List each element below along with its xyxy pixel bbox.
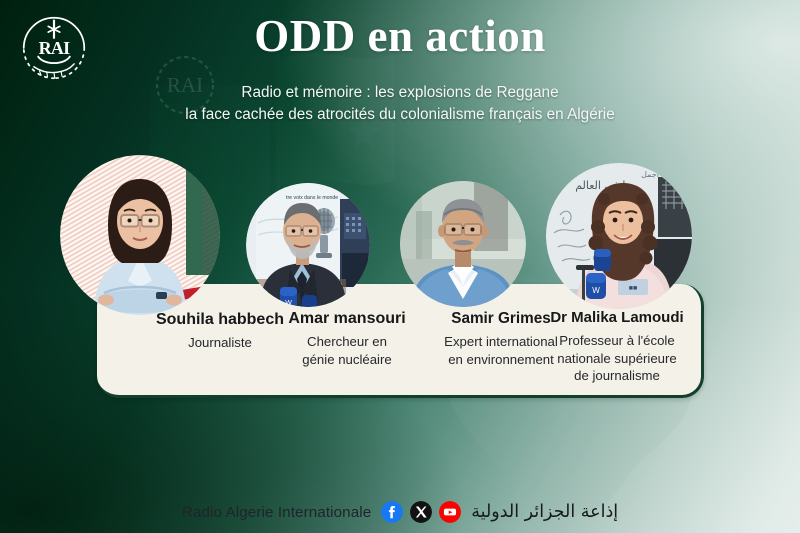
speaker-role: Professeur à l'école nationale supérieur… bbox=[522, 332, 712, 385]
speaker-entry-4: Dr Malika Lamoudi Professeur à l'école n… bbox=[522, 309, 712, 385]
page-title: ODD en action bbox=[120, 13, 680, 60]
brand-name-arabic: إذاعة الجزائر الدولية bbox=[471, 502, 618, 522]
page-subtitle: Radio et mémoire : les explosions de Reg… bbox=[70, 82, 730, 125]
social-links bbox=[381, 501, 461, 523]
speaker-role-line: de journalisme bbox=[522, 367, 712, 385]
footer-bar: Radio Algerie Internationale إذاعة الجزا… bbox=[0, 501, 800, 523]
speaker-name: Dr Malika Lamoudi bbox=[522, 309, 712, 327]
brand-name-latin: Radio Algerie Internationale bbox=[182, 504, 371, 521]
speaker-role-line: nationale supérieure bbox=[522, 350, 712, 368]
svg-text:RAI: RAI bbox=[39, 38, 71, 58]
x-twitter-icon[interactable] bbox=[410, 501, 432, 523]
youtube-icon[interactable] bbox=[439, 501, 461, 523]
speakers-list: Souhila habbech Journaliste Amar mansour… bbox=[97, 284, 704, 398]
svg-text:tre voix dans le monde: tre voix dans le monde bbox=[286, 195, 338, 201]
poster-canvas: RAI RAI ODD en action bbox=[0, 0, 800, 533]
facebook-icon[interactable] bbox=[381, 501, 403, 523]
subtitle-line-1: Radio et mémoire : les explosions de Reg… bbox=[241, 84, 558, 101]
rai-logo-icon: RAI bbox=[18, 12, 90, 84]
speaker-role-line: Professeur à l'école bbox=[522, 332, 712, 350]
subtitle-line-2: la face cachée des atrocités du colonial… bbox=[70, 104, 730, 126]
